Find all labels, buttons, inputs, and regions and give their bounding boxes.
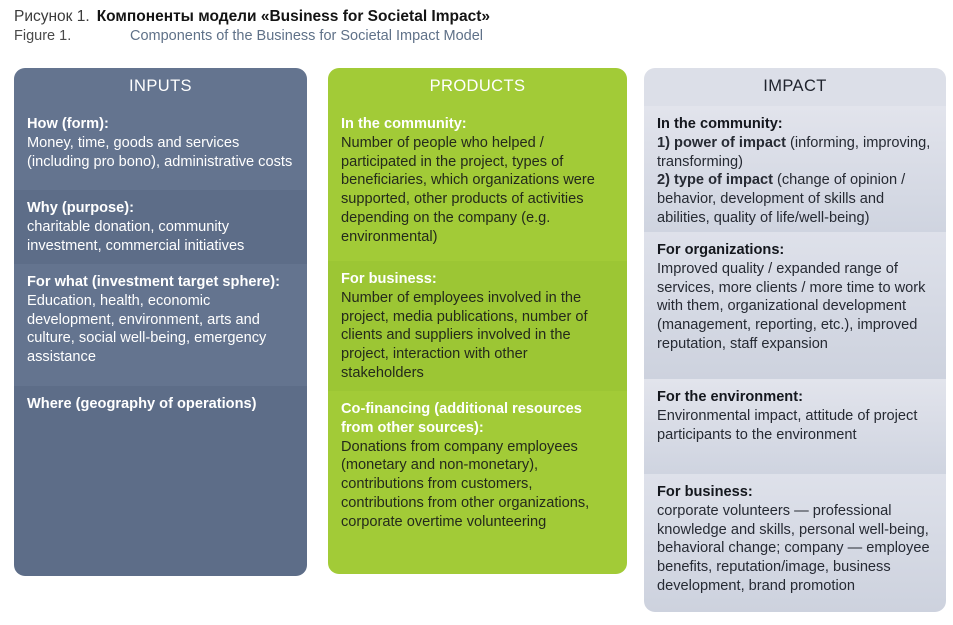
band-heading: In the community:	[341, 115, 614, 134]
band-inputs-how: How (form): Money, time, goods and servi…	[14, 106, 307, 190]
band-body: Money, time, goods and services (includi…	[27, 134, 294, 172]
column-header-inputs: INPUTS	[14, 68, 307, 106]
band-body: charitable donation, community investmen…	[27, 218, 294, 256]
band-body: Improved quality / expanded range of ser…	[657, 260, 933, 354]
band-body: Environmental impact, attitude of projec…	[657, 407, 933, 445]
band-products-community: In the community: Number of people who h…	[328, 106, 627, 261]
figure-title-en: Components of the Business for Societal …	[130, 28, 483, 44]
column-header-impact: IMPACT	[644, 68, 946, 106]
band-heading: How (form):	[27, 115, 294, 134]
caption-row-english: Figure 1. Components of the Business for…	[14, 28, 939, 44]
band-inputs-where: Where (geography of operations)	[14, 386, 307, 576]
band-heading: For business:	[341, 270, 614, 289]
band-heading: For the environment:	[657, 388, 933, 407]
band-body-rich-1: 1) power of impact (informing, improving…	[657, 134, 933, 172]
band-products-cofinancing: Co-financing (additional resources from …	[328, 391, 627, 574]
band-body: corporate volunteers — professional know…	[657, 502, 933, 596]
band-impact-community: In the community: 1) power of impact (in…	[644, 106, 946, 232]
band-inputs-for-what: For what (investment target sphere): Edu…	[14, 264, 307, 386]
band-heading: For what (investment target sphere):	[27, 273, 294, 292]
band-impact-environment: For the environment: Environmental impac…	[644, 379, 946, 474]
figure-number-en: Figure 1.	[14, 28, 130, 44]
column-inputs: INPUTS How (form): Money, time, goods an…	[14, 68, 307, 576]
column-header-products: PRODUCTS	[328, 68, 627, 106]
figure-caption: Рисунок 1. Компоненты модели «Business f…	[14, 8, 939, 44]
band-heading: For organizations:	[657, 241, 933, 260]
band-body: Number of people who helped / participat…	[341, 134, 614, 247]
band-body: Donations from company employees (moneta…	[341, 438, 614, 532]
band-products-business: For business: Number of employees involv…	[328, 261, 627, 391]
figure-title-ru: Компоненты модели «Business for Societal…	[97, 8, 490, 26]
band-heading: Why (purpose):	[27, 199, 294, 218]
band-body: Number of employees involved in the proj…	[341, 289, 614, 383]
impact-point-1-bold: 1) power of impact	[657, 135, 786, 151]
band-heading: Where (geography of operations)	[27, 395, 294, 414]
band-heading: Co-financing (additional resources from …	[341, 400, 614, 438]
band-inputs-why: Why (purpose): charitable donation, comm…	[14, 190, 307, 264]
band-impact-organizations: For organizations: Improved quality / ex…	[644, 232, 946, 379]
band-body-rich-2: 2) type of impact (change of opinion / b…	[657, 171, 933, 227]
column-products: PRODUCTS In the community: Number of peo…	[328, 68, 627, 574]
band-heading: For business:	[657, 483, 933, 502]
band-impact-business: For business: corporate volunteers — pro…	[644, 474, 946, 612]
impact-point-2-bold: 2) type of impact	[657, 172, 773, 188]
figure-number-ru: Рисунок 1.	[14, 8, 90, 26]
column-impact: IMPACT In the community: 1) power of imp…	[644, 68, 946, 612]
band-body: Education, health, economic development,…	[27, 292, 294, 367]
caption-row-russian: Рисунок 1. Компоненты модели «Business f…	[14, 8, 939, 26]
band-heading: In the community:	[657, 115, 933, 134]
